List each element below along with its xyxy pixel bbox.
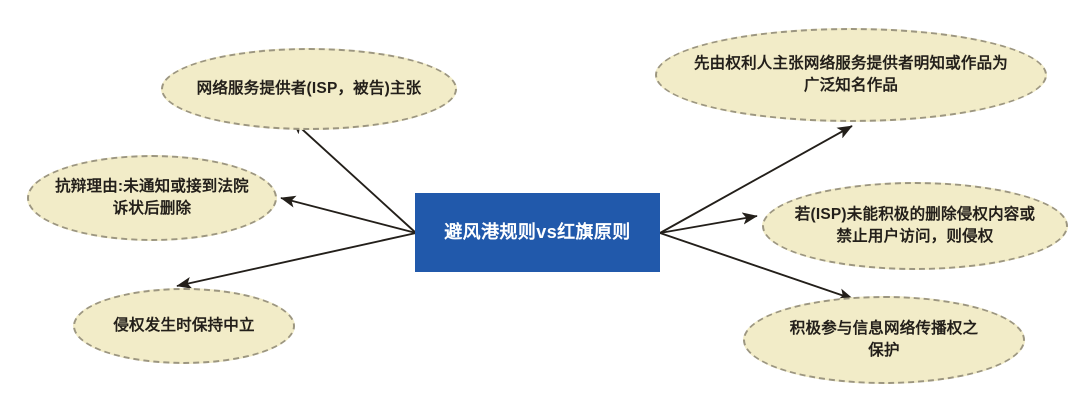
edge-center-to-isp-claim xyxy=(292,120,416,233)
diagram-canvas: 避风港规则vs红旗原则 网络服务提供者(ISP，被告)主张抗辩理由:未通知或接到… xyxy=(0,0,1080,415)
node-defense-reason[interactable]: 抗辩理由:未通知或接到法院 诉状后删除 xyxy=(27,155,277,241)
node-isp-claim[interactable]: 网络服务提供者(ISP，被告)主张 xyxy=(161,48,457,130)
center-node-label: 避风港规则vs红旗原则 xyxy=(444,221,630,244)
edge-center-to-stay-neutral xyxy=(177,233,416,286)
edge-center-to-isp-infringement xyxy=(660,216,757,233)
node-label-defense-reason: 抗辩理由:未通知或接到法院 诉状后删除 xyxy=(45,176,259,220)
node-active-participation[interactable]: 积极参与信息网络传播权之 保护 xyxy=(743,296,1025,384)
node-label-isp-infringement: 若(ISP)未能积极的删除侵权内容或 禁止用户访问，则侵权 xyxy=(785,204,1045,248)
node-label-stay-neutral: 侵权发生时保持中立 xyxy=(103,315,264,337)
edge-center-to-defense-reason xyxy=(281,198,416,233)
node-label-active-participation: 积极参与信息网络传播权之 保护 xyxy=(780,318,988,362)
node-rights-holder-claim[interactable]: 先由权利人主张网络服务提供者明知或作品为 广泛知名作品 xyxy=(655,28,1047,122)
node-isp-infringement[interactable]: 若(ISP)未能积极的删除侵权内容或 禁止用户访问，则侵权 xyxy=(762,182,1068,270)
node-label-isp-claim: 网络服务提供者(ISP，被告)主张 xyxy=(187,78,432,100)
node-label-rights-holder-claim: 先由权利人主张网络服务提供者明知或作品为 广泛知名作品 xyxy=(684,53,1018,97)
node-stay-neutral[interactable]: 侵权发生时保持中立 xyxy=(73,288,295,364)
center-node-safe-harbor-vs-red-flag[interactable]: 避风港规则vs红旗原则 xyxy=(415,193,660,272)
